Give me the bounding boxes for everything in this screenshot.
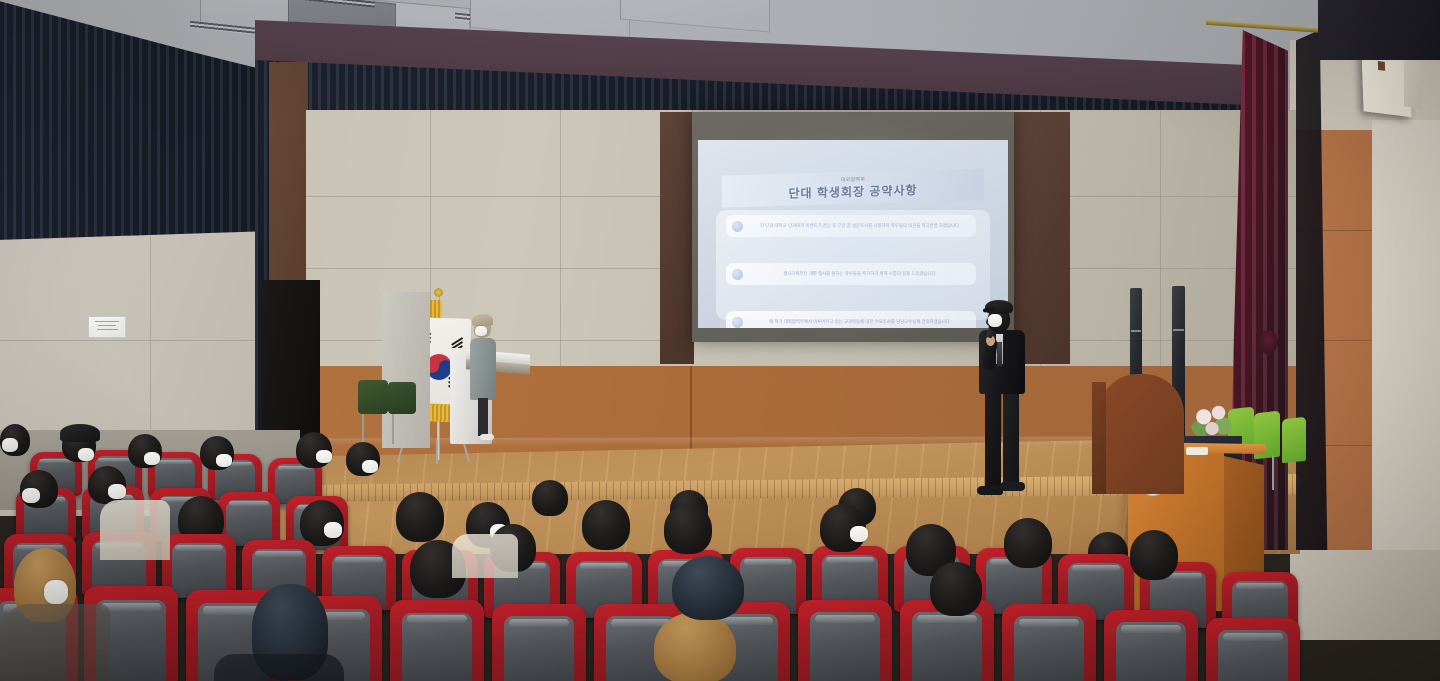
slide-bullet-1: 각 단과 대학교·단과대학 이벤트가 끝난 후 구글 폼 설문조사를 시행하여 …: [726, 215, 976, 237]
audience-head: [582, 500, 630, 550]
chair-leg: [362, 414, 364, 444]
audience-shoulders: [452, 534, 518, 578]
stage-green-chair: [388, 382, 416, 414]
whiteboard-panel: [382, 292, 430, 448]
audience-shoulders: [0, 604, 110, 681]
slide-bullet-text: 행사기획부터 개별 행사를 원하는 학우들을 추가하기 위해 소통의 길을 드리…: [743, 270, 976, 278]
audience-face-mask: [78, 448, 94, 461]
seat: [798, 600, 892, 681]
wall-notice-sign: [88, 316, 126, 338]
presenter-leg-right: [1003, 386, 1019, 486]
bullet-icon-3: [732, 317, 743, 328]
seat: [1002, 604, 1096, 681]
podium-paper: [1186, 447, 1208, 455]
assistant-leg: [478, 398, 488, 436]
flag-pole-finial: [434, 288, 443, 297]
presenter-face-mask: [988, 314, 1002, 327]
seat: [1104, 610, 1198, 681]
assistant-hoodie: [470, 338, 496, 400]
decorative-wood-arch: [1098, 374, 1184, 494]
green-chair: [1282, 417, 1306, 464]
audience-face-mask: [108, 484, 126, 499]
auditorium-scene: 대외협력부 단대 학생회장 공약사항 각 단과 대학교·단과대학 이벤트가 끝난…: [0, 0, 1440, 681]
audience-face-mask: [22, 488, 40, 503]
slide-bullet-2: 행사기획부터 개별 행사를 원하는 학우들을 추가하기 위해 소통의 길을 드리…: [726, 263, 976, 285]
audience-shoulders: [100, 500, 170, 560]
slide-body-panel: 각 단과 대학교·단과대학 이벤트가 끝난 후 구글 폼 설문조사를 시행하여 …: [716, 210, 990, 320]
seat: [492, 604, 586, 681]
upper-right-dark-area: [1318, 0, 1440, 60]
assistant-shoe: [480, 434, 494, 440]
audience-head: [930, 562, 982, 616]
slide-title-band: 대외협력부 단대 학생회장 공약사항: [722, 168, 984, 207]
audience-face-mask: [216, 454, 232, 467]
audience-head: [672, 556, 744, 620]
audience-head: [396, 492, 444, 542]
audience-head: [1130, 530, 1178, 580]
curtain-tieback: [1258, 330, 1278, 354]
audience-head: [654, 612, 736, 681]
audience-head: [664, 504, 712, 554]
assistant-face-mask: [475, 326, 487, 336]
seat: [390, 600, 484, 681]
decorative-wood-arch-side: [1092, 382, 1106, 494]
slide-bullet-text: 매 학기 대외협력부에서 이루어지고 있는 교과목들에 대한 수요조사를 담당교…: [743, 318, 976, 326]
presenter-shoe-right: [1000, 482, 1025, 491]
slide-bullet-3: 매 학기 대외협력부에서 이루어지고 있는 교과목들에 대한 수요조사를 담당교…: [726, 311, 976, 328]
audience-face-mask: [316, 450, 332, 463]
right-wall-pillar: [1372, 120, 1440, 550]
audience-cap: [60, 424, 100, 442]
audience-head: [532, 480, 568, 516]
wall-dark-panel: [1010, 112, 1070, 364]
stage-green-chair: [358, 380, 388, 414]
chair-leg: [1272, 456, 1274, 490]
chair-leg: [392, 414, 394, 444]
audience-face-mask: [44, 580, 68, 604]
audience-head: [1004, 518, 1052, 568]
assistant-beanie: [472, 314, 493, 326]
presentation-slide: 대외협력부 단대 학생회장 공약사항 각 단과 대학교·단과대학 이벤트가 끝난…: [698, 140, 1008, 328]
projection-screen: 대외협력부 단대 학생회장 공약사항 각 단과 대학교·단과대학 이벤트가 끝난…: [692, 112, 1014, 342]
audience-shoulders: [214, 654, 344, 681]
slide-bullet-text: 각 단과 대학교·단과대학 이벤트가 끝난 후 구글 폼 설문조사를 시행하여 …: [743, 222, 976, 230]
bullet-icon-1: [732, 221, 743, 232]
wall-dark-panel: [660, 112, 694, 364]
audience-face-mask: [362, 460, 378, 473]
presenter-leg-left: [985, 386, 1001, 490]
speaker-label: [1378, 61, 1385, 71]
flag-stand-leg: [436, 440, 438, 464]
audience-face-mask: [144, 452, 160, 465]
presenter-necktie: [997, 342, 1002, 366]
audience-face-mask: [324, 522, 342, 538]
bullet-icon-2: [732, 269, 743, 280]
audience-face-mask: [2, 438, 18, 452]
seat: [1206, 618, 1300, 681]
audience-face-mask: [850, 526, 868, 542]
